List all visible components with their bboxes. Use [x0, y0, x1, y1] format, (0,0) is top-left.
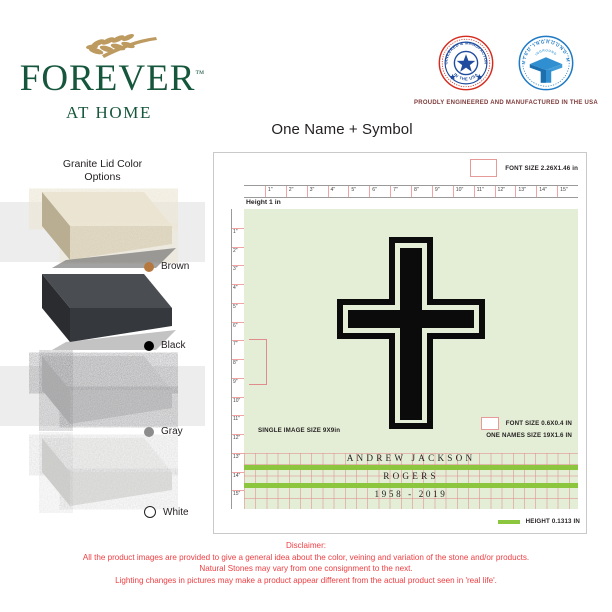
engraving-line-1[interactable]: ANDREW JACKSON: [244, 453, 578, 463]
swatch-name-gray: Gray: [161, 426, 183, 437]
engraving-line-2[interactable]: ROGERS: [244, 471, 578, 481]
measure-marker: [249, 339, 267, 385]
swatch-name-black: Black: [161, 340, 185, 351]
ruler-h-tick-label: 14": [539, 187, 547, 193]
swatch-title-line1: Granite Lid Color: [63, 158, 142, 170]
guide-band-bottom: [244, 483, 578, 488]
badge-caption: PROUDLY ENGINEERED AND MANUFACTURED IN T…: [404, 100, 608, 106]
swatch-dot-black: [144, 341, 154, 351]
font-size-swatch-box-bottom: [481, 417, 499, 430]
ruler-v-tick-label: 3": [233, 266, 238, 272]
product-spec-sheet: FOREVER™ AT HOME ENGINEERED & MANU: [0, 0, 612, 612]
ruler-h-tick-label: 2": [289, 187, 294, 193]
ruler-h-tick-label: 10": [456, 187, 464, 193]
engraving-layout-document: FONT SIZE 2.26X1.46 in 1"2"3"4"5"6"7"8"9…: [213, 152, 587, 534]
font-size-bottom-text: FONT SIZE 0.6X0.4 IN: [506, 420, 572, 427]
white-granite-lid[interactable]: [6, 432, 178, 516]
font-size-swatch-box: [470, 159, 497, 177]
brown-granite-lid[interactable]: [6, 186, 178, 270]
ruler-v-tick-label: 7": [233, 341, 238, 347]
disclaimer-line-2: Natural Stones may vary from one consign…: [0, 563, 612, 575]
disclaimer-line-3: Lighting changes in pictures may make a …: [0, 575, 612, 587]
height-legend-text: HEIGHT 0.1313 IN: [526, 518, 580, 525]
engraving-line-3[interactable]: 1958 - 2019: [244, 489, 578, 499]
certification-badges: ENGINEERED & MANUFACTURED IN THE USA: [404, 34, 608, 122]
ruler-v-tick-label: 9": [233, 379, 238, 385]
swatch-label-white[interactable]: White: [144, 506, 189, 518]
swatch-dot-gray: [144, 427, 154, 437]
disclaimer: Disclaimer: All the product images are p…: [0, 540, 612, 586]
disclaimer-line-1: All the product images are provided to g…: [0, 552, 612, 564]
ruler-v-tick-label: 10": [233, 398, 240, 404]
brand-logo: FOREVER™ AT HOME: [14, 34, 210, 122]
design-canvas[interactable]: SINGLE IMAGE SIZE 9X9in FONT SIZE 0.6X0.…: [244, 209, 578, 509]
ruler-h-tick-label: 11": [477, 187, 484, 193]
horizontal-ruler: 1"2"3"4"5"6"7"8"9"10"11"12"13"14"15": [244, 185, 578, 198]
ruler-v-tick-label: 12": [233, 435, 240, 441]
patented-inground-mount-seal-icon: PATENTED INGROUND MOUNT INGROUND: [517, 34, 575, 92]
swatch-dot-brown: [144, 262, 154, 272]
swatch-name-white: White: [163, 507, 189, 518]
font-size-legend-top: FONT SIZE 2.26X1.46 in: [470, 159, 578, 177]
latin-cross-symbol[interactable]: [337, 237, 485, 429]
height-legend: HEIGHT 0.1313 IN: [498, 518, 580, 525]
font-size-legend-bottom: FONT SIZE 0.6X0.4 IN ONE NAMES SIZE 19X1…: [481, 417, 572, 439]
ruler-v-tick-label: 4": [233, 285, 238, 291]
ruler-h-tick-label: 6": [372, 187, 377, 193]
height-label: Height 1 in: [246, 199, 281, 206]
ruler-v-tick-label: 2": [233, 248, 238, 254]
swatch-title-line2: Options: [84, 171, 120, 183]
ruler-v-tick-label: 5": [233, 304, 238, 310]
ruler-h-tick-label: 8": [414, 187, 419, 193]
single-image-size-label: SINGLE IMAGE SIZE 9X9in: [258, 427, 340, 434]
disclaimer-heading: Disclaimer:: [0, 540, 612, 552]
ruler-h-tick-label: 3": [310, 187, 315, 193]
svg-text:INGROUND: INGROUND: [534, 48, 557, 56]
names-size-text: ONE NAMES SIZE 19X1.6 IN: [481, 432, 572, 439]
swatch-label-brown[interactable]: Brown: [144, 261, 189, 272]
height-legend-bar: [498, 520, 520, 524]
ruler-h-tick-label: 12": [498, 187, 506, 193]
ruler-v-tick-label: 11": [233, 416, 240, 422]
svg-text:ENGINEERED & MANUFACTURED: ENGINEERED & MANUFACTURED: [437, 34, 489, 65]
ruler-h-tick-label: 5": [351, 187, 356, 193]
swatch-label-black[interactable]: Black: [144, 340, 185, 351]
font-size-legend-text: FONT SIZE 2.26X1.46 in: [505, 165, 578, 172]
ruler-v-tick-label: 13": [233, 454, 240, 460]
trademark-symbol: ™: [195, 69, 204, 79]
gray-granite-lid[interactable]: [6, 350, 178, 434]
granite-color-options: Granite Lid Color Options: [0, 158, 205, 538]
svg-text:IN THE USA: IN THE USA: [453, 72, 479, 82]
brand-wordmark: FOREVER™: [14, 60, 210, 97]
swatch-dot-white: [144, 506, 156, 518]
ruler-h-tick-label: 9": [435, 187, 440, 193]
ruler-h-tick-label: 4": [331, 187, 336, 193]
guide-band-top: [244, 465, 578, 470]
ruler-v-tick-label: 15": [233, 491, 240, 497]
engineered-manufactured-usa-seal-icon: ENGINEERED & MANUFACTURED IN THE USA: [437, 34, 495, 92]
page-title: One Name + Symbol: [212, 121, 472, 138]
ruler-v-tick-label: 1": [233, 229, 238, 235]
ruler-h-tick-label: 13": [518, 187, 526, 193]
ruler-v-tick-label: 8": [233, 360, 238, 366]
ruler-h-tick-label: 1": [268, 187, 273, 193]
ruler-v-tick-label: 6": [233, 323, 238, 329]
brand-word-text: FOREVER: [20, 58, 196, 99]
ruler-h-tick-label: 7": [393, 187, 398, 193]
brand-tagline: AT HOME: [14, 104, 204, 121]
ruler-v-tick-label: 14": [233, 473, 240, 479]
swatch-panel-title: Granite Lid Color Options: [0, 158, 205, 184]
swatch-name-brown: Brown: [161, 261, 189, 272]
ruler-h-tick-label: 15": [560, 187, 568, 193]
swatch-label-gray[interactable]: Gray: [144, 426, 183, 437]
